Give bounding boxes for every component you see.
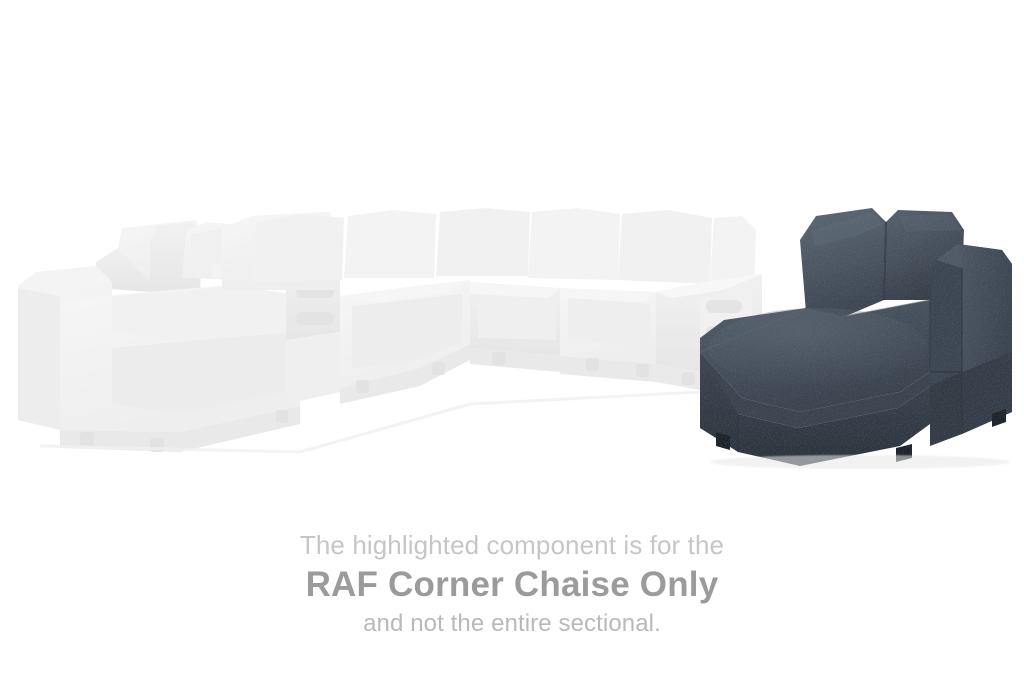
ghost-module-armless-right-1 [470, 282, 560, 372]
caption-line-primary: The highlighted component is for the [0, 528, 1024, 562]
caption-block: The highlighted component is for the RAF… [0, 528, 1024, 640]
product-image-canvas: The highlighted component is for the RAF… [0, 0, 1024, 683]
cup-holder [706, 300, 742, 313]
cup-holder [296, 312, 334, 325]
caption-component-name: RAF Corner Chaise Only [0, 562, 1024, 608]
caption-line-disclaimer: and not the entire sectional. [0, 608, 1024, 640]
